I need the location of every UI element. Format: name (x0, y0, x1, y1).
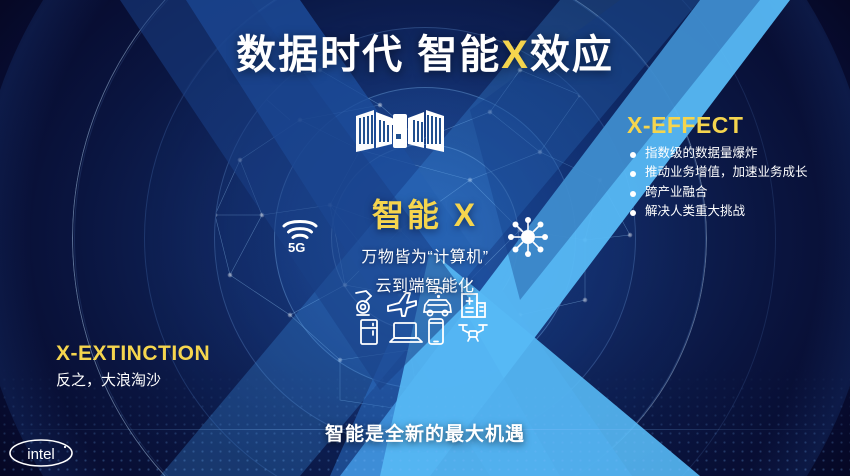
bullet-dot-icon (630, 171, 636, 177)
x-extinction-block: X-EXTINCTION 反之，大浪淘沙 (56, 342, 210, 390)
title-tail: 效应 (530, 33, 614, 77)
hospital-icon (458, 289, 488, 319)
drone-icon (456, 320, 490, 344)
5g-label: 5G (288, 240, 305, 255)
x-extinction-subtitle: 反之，大浪淘沙 (56, 369, 210, 390)
list-item: 指数级的数据量爆炸 (627, 146, 808, 161)
smartphone-icon (426, 317, 446, 346)
x-effect-heading: X-EFFECT (627, 112, 808, 139)
laptop-icon (388, 320, 424, 346)
x-extinction-heading: X-EXTINCTION (56, 342, 210, 366)
title-main: 数据时代 智能 (236, 33, 501, 77)
svg-text:intel: intel (27, 446, 55, 463)
x-effect-bullet-2: 推动业务增值，加速业务成长 (645, 165, 808, 180)
ai-chip-network-icon: AI (506, 215, 550, 259)
page-title: 数据时代 智能X效应 (0, 22, 850, 80)
slide-canvas: 5G AI (0, 0, 850, 476)
svg-text:AI: AI (524, 234, 532, 243)
x-effect-bullet-3: 跨产业融合 (645, 185, 708, 200)
connected-car-icon (420, 287, 454, 319)
intel-logo: intel (8, 438, 74, 468)
robot-arm-icon (352, 288, 380, 318)
bullet-dot-icon (630, 210, 636, 216)
airplane-icon (386, 290, 418, 318)
x-effect-block: X-EFFECT 指数级的数据量爆炸 推动业务增值，加速业务成长 跨产业融合 解… (627, 112, 808, 223)
x-effect-bullet-list: 指数级的数据量爆炸 推动业务增值，加速业务成长 跨产业融合 解决人类重大挑战 (627, 146, 808, 219)
list-item: 解决人类重大挑战 (627, 204, 808, 219)
tagline: 智能是全新的最大机遇 (0, 419, 850, 446)
title-accent: X (501, 33, 530, 77)
bullet-dot-icon (630, 152, 636, 158)
bullet-dot-icon (630, 191, 636, 197)
x-effect-bullet-1: 指数级的数据量爆炸 (645, 146, 758, 161)
data-center-icon (352, 108, 448, 154)
list-item: 跨产业融合 (627, 185, 808, 200)
appliance-icon (358, 318, 380, 346)
list-item: 推动业务增值，加速业务成长 (627, 165, 808, 180)
x-effect-bullet-4: 解决人类重大挑战 (645, 204, 745, 219)
